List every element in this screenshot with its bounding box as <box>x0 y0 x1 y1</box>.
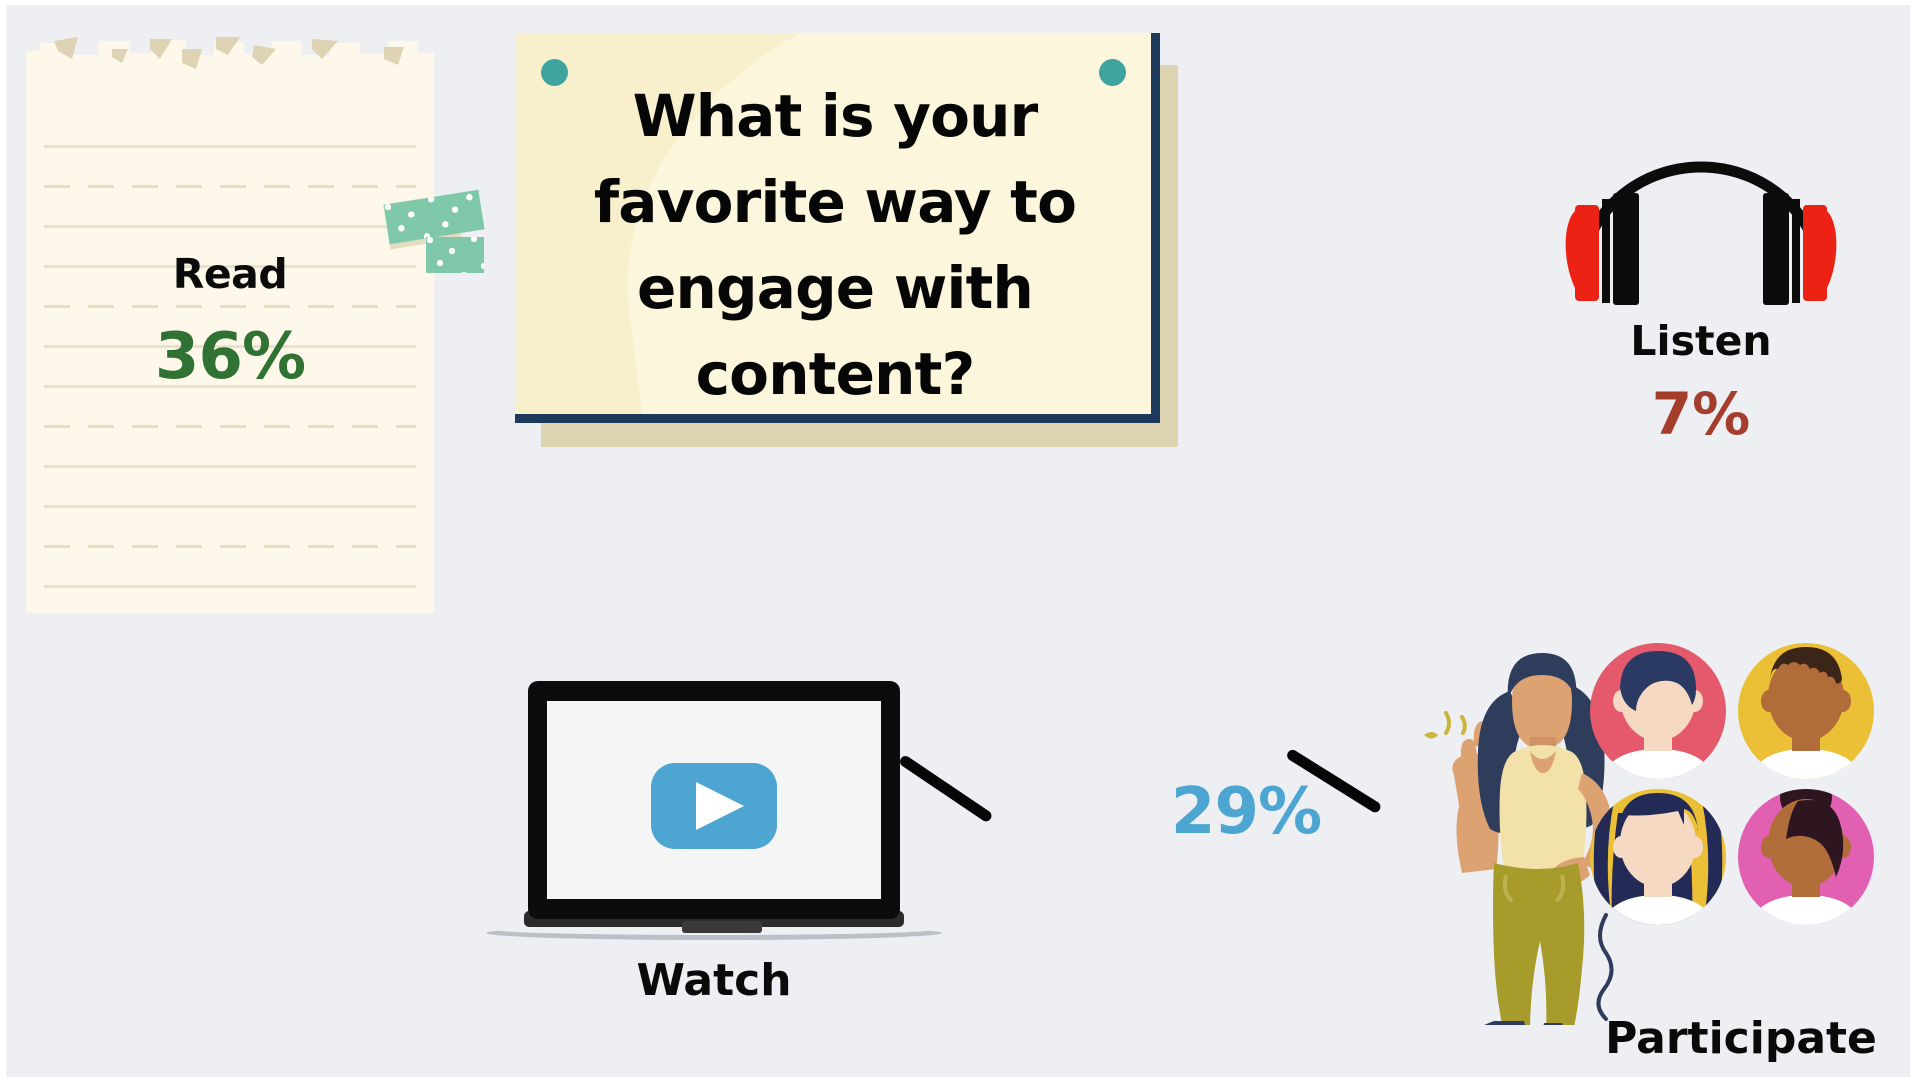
option-label-read: Read <box>26 250 434 298</box>
notepad-icon: Read 36% <box>26 35 434 613</box>
avatar-magenta-bun-hair <box>1738 771 1874 961</box>
headphones-icon <box>1551 95 1851 315</box>
listen-option-group: Listen 7% <box>1551 95 1851 395</box>
option-label-listen: Listen <box>1551 317 1851 365</box>
laptop-trackpad-notch <box>682 921 762 933</box>
avatar-yellow-long-hair <box>1590 789 1726 961</box>
washi-tape-dots <box>426 237 484 273</box>
question-line-2: favorite way to <box>594 168 1076 236</box>
question-line-3: engage with <box>637 254 1033 322</box>
question-line-1: What is your <box>633 82 1038 150</box>
laptop-play-icon <box>474 675 954 955</box>
option-label-watch: Watch <box>474 955 954 1006</box>
sticky-note-question: What is yourfavorite way toengage withco… <box>515 33 1160 423</box>
option-percent-listen: 7% <box>1551 380 1851 448</box>
question-text: What is yourfavorite way toengage withco… <box>555 73 1115 417</box>
people-avatars-icon <box>1406 625 1910 1025</box>
option-label-participate: Participate <box>1566 1013 1910 1064</box>
infographic-canvas: Read 36% What is yourfavorite way toenga… <box>6 5 1910 1077</box>
standing-woman-illustration <box>1424 653 1613 1025</box>
infographic-root: Read 36% What is yourfavorite way toenga… <box>0 0 1916 1086</box>
watch-option-group: Watch <box>474 675 954 1075</box>
question-line-4: content? <box>696 340 975 408</box>
participate-option-group: Participate <box>1406 625 1910 1077</box>
washi-tape-lower <box>426 237 484 273</box>
option-percent-read: 36% <box>26 320 434 394</box>
option-percent-watch-participate: 29% <box>1091 775 1401 849</box>
